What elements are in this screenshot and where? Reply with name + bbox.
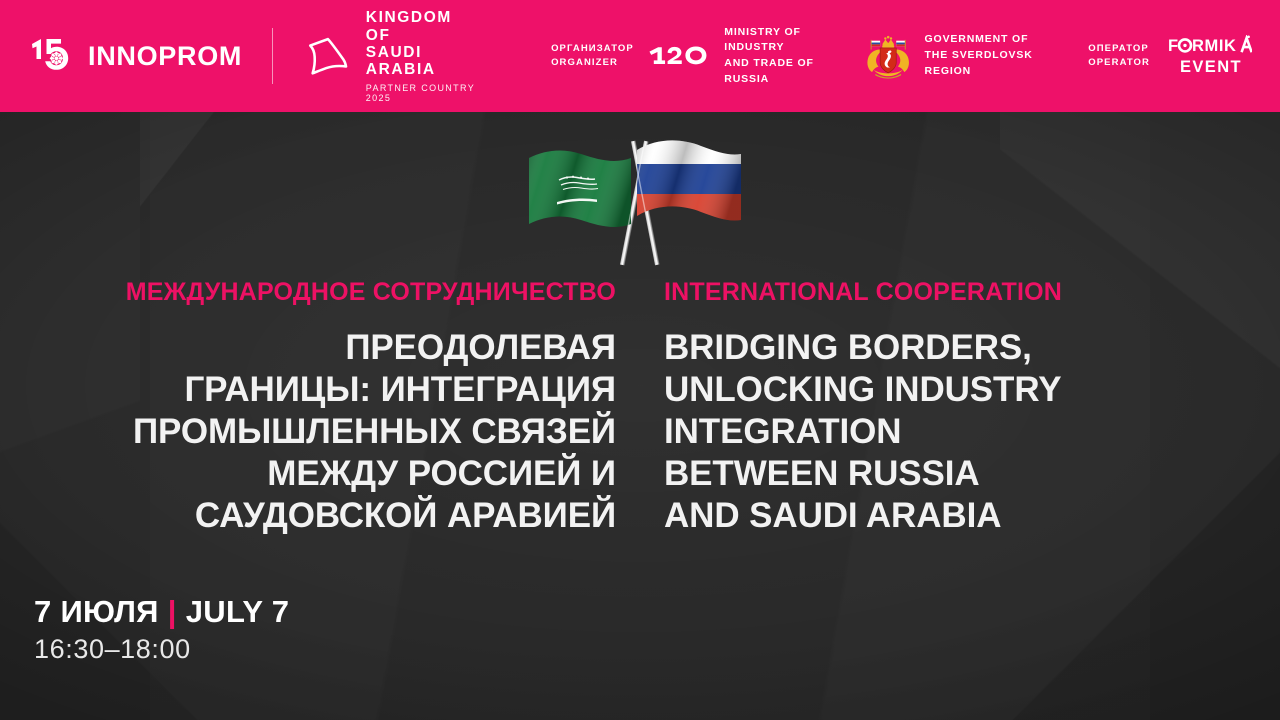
russia-flag [633, 134, 745, 228]
title-ru-line: ПРЕОДОЛЕВАЯ [16, 327, 616, 369]
session-date-ru: 7 ИЮЛЯ [34, 594, 159, 629]
title-ru-line: ГРАНИЦЫ: ИНТЕГРАЦИЯ [16, 369, 616, 411]
organizer-caption-en: ORGANIZER [551, 56, 634, 70]
title-ru-line: МЕЖДУ РОССИЕЙ И [16, 453, 616, 495]
partner-country-text: KINGDOM OF SAUDI ARABIA PARTNER COUNTRY … [366, 9, 477, 103]
organizer-block[interactable]: ОРГАНИЗАТОР ORGANIZER MINISTRY OF INDUST… [551, 25, 826, 88]
partner-country-line1: KINGDOM OF [366, 9, 477, 44]
session-datetime: 7 ИЮЛЯ|JULY 7 16:30–18:00 [34, 596, 289, 663]
government-name-line1: GOVERNMENT OF [925, 32, 1053, 48]
svg-text:F: F [1168, 37, 1179, 55]
innoprom-logo[interactable]: INNOPROM [28, 35, 242, 77]
date-separator: | [168, 594, 177, 629]
title-en-line: BETWEEN RUSSIA [664, 453, 1264, 495]
partner-country-logo[interactable]: KINGDOM OF SAUDI ARABIA PARTNER COUNTRY … [303, 9, 477, 103]
saudi-emblem-icon [303, 30, 353, 82]
title-russian: ПРЕОДОЛЕВАЯ ГРАНИЦЫ: ИНТЕГРАЦИЯ ПРОМЫШЛЕ… [16, 327, 616, 537]
kicker-english: INTERNATIONAL COOPERATION [664, 278, 1062, 307]
formika-event-logo-icon: F RMIK EVENT [1168, 35, 1252, 77]
sverdlovsk-coat-of-arms-icon [864, 28, 912, 84]
title-en-line: INTEGRATION [664, 411, 1264, 453]
title-ru-line: САУДОВСКОЙ АРАВИЕЙ [16, 495, 616, 537]
kicker-row: МЕЖДУНАРОДНОЕ СОТРУДНИЧЕСТВО INTERNATION… [0, 278, 1280, 312]
title-english: BRIDGING BORDERS, UNLOCKING INDUSTRY INT… [664, 327, 1264, 537]
title-ru-line: ПРОМЫШЛЕННЫХ СВЯЗЕЙ [16, 411, 616, 453]
title-en-line: AND SAUDI ARABIA [664, 495, 1264, 537]
ministry-name-line1: MINISTRY OF INDUSTRY [724, 25, 826, 57]
organizer-caption: ОРГАНИЗАТОР ORGANIZER [551, 42, 634, 71]
sponsor-header-bar: INNOPROM KINGDOM OF SAUDI ARABIA PARTNER… [0, 0, 1280, 112]
title-en-line: UNLOCKING INDUSTRY [664, 369, 1264, 411]
session-date-en: JULY 7 [186, 594, 290, 629]
crossed-flags-graphic [515, 128, 765, 268]
svg-text:EVENT: EVENT [1180, 58, 1242, 76]
svg-text:RMIK: RMIK [1192, 37, 1237, 55]
government-name: GOVERNMENT OF THE SVERDLOVSK REGION [925, 32, 1053, 79]
government-name-line2: THE SVERDLOVSK REGION [925, 48, 1053, 80]
ministry-name-line2: AND TRADE OF RUSSIA [724, 56, 826, 88]
operator-caption-en: OPERATOR [1088, 56, 1150, 70]
operator-caption-ru: ОПЕРАТОР [1088, 42, 1150, 56]
session-time: 16:30–18:00 [34, 635, 289, 663]
innoprom-wordmark: INNOPROM [88, 41, 242, 72]
operator-block[interactable]: ОПЕРАТОР OPERATOR F RMIK EVENT [1088, 35, 1252, 77]
session-date: 7 ИЮЛЯ|JULY 7 [34, 596, 289, 629]
operator-caption: ОПЕРАТОР OPERATOR [1088, 42, 1150, 71]
organizer-caption-ru: ОРГАНИЗАТОР [551, 42, 634, 56]
partner-country-line3: PARTNER COUNTRY 2025 [366, 83, 477, 103]
title-en-line: BRIDGING BORDERS, [664, 327, 1264, 369]
ministry-120-anniversary-icon [648, 41, 710, 71]
innoprom-15-icon [28, 35, 78, 77]
government-block[interactable]: GOVERNMENT OF THE SVERDLOVSK REGION [864, 28, 1052, 84]
presentation-slide: INNOPROM KINGDOM OF SAUDI ARABIA PARTNER… [0, 0, 1280, 720]
ministry-name: MINISTRY OF INDUSTRY AND TRADE OF RUSSIA [724, 25, 826, 88]
kicker-russian: МЕЖДУНАРОДНОЕ СОТРУДНИЧЕСТВО [126, 278, 616, 307]
header-divider [272, 28, 273, 84]
partner-country-line2: SAUDI ARABIA [366, 44, 477, 79]
